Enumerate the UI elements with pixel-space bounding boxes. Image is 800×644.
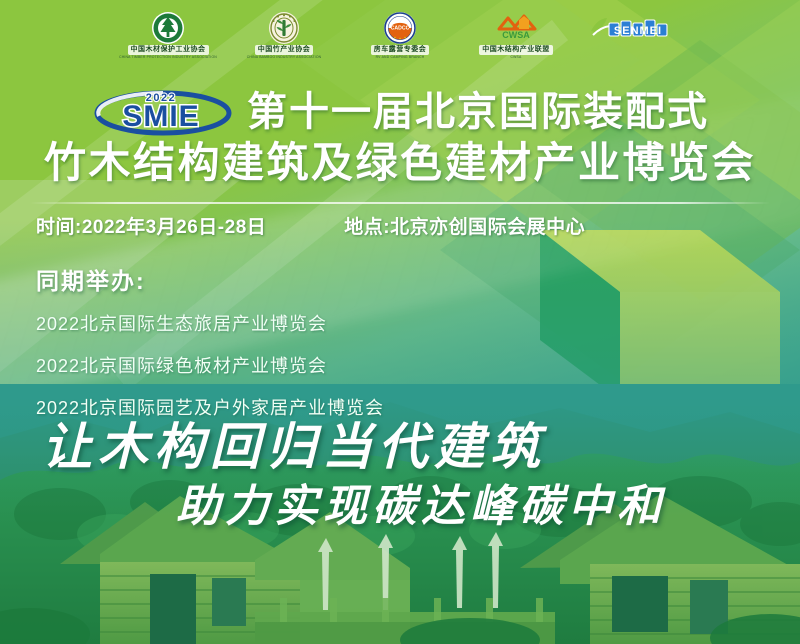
slogan-block: 让木构回归当代建筑 助力实现碳达峰碳中和 (0, 418, 800, 534)
slogan-line-2: 助力实现碳达峰碳中和 (0, 480, 800, 534)
tree-shield-icon (151, 11, 185, 45)
slogan-line-1: 让木构回归当代建筑 (0, 418, 800, 476)
logo-label-cn: 中国竹产业协会 (255, 45, 314, 54)
concurrent-events-section: 同期举办: 2022北京国际生态旅居产业博览会 2022北京国际绿色板材产业博览… (36, 262, 384, 436)
title-divider (30, 202, 770, 204)
logo-label-en: RV AND CAMPING BRANCH (376, 55, 425, 59)
logo-label-en: CWSA (511, 55, 522, 59)
logo-senmei[interactable]: SENMEI SENMEI SENMEI (589, 11, 675, 58)
logo-label-cn: 房车露营专委会 (371, 45, 430, 54)
event-date: 时间:2022年3月26日-28日 (36, 212, 266, 239)
logo-label-en: CHINA BAMBOO INDUSTRY ASSOCIATION (247, 55, 322, 59)
concurrent-list: 2022北京国际生态旅居产业博览会 2022北京国际绿色板材产业博览会 2022… (36, 310, 384, 420)
svg-text:CWSA: CWSA (502, 30, 530, 40)
senmei-leaf-icon: SENMEI (587, 11, 677, 45)
smie-logo: 2022 SMIE (91, 88, 237, 136)
logo-cwsa-wood-structure-alliance[interactable]: CWSA 中国木结构产业联盟 CWSA (473, 11, 559, 58)
title-line-1: 第十一届北京国际装配式 (247, 89, 709, 135)
logo-label-en: CHINA TIMBER PROTECTION INDUSTRY ASSOCIA… (119, 55, 217, 59)
title-line-2: 竹木结构建筑及绿色建材产业博览会 (0, 138, 800, 188)
logo-label-cn: 中国木材保护工业协会 (128, 45, 209, 54)
concurrent-item: 2022北京国际生态旅居产业博览会 (36, 310, 384, 336)
concurrent-item: 2022北京国际绿色板材产业博览会 (36, 352, 384, 378)
svg-text:SENMEI: SENMEI (614, 25, 662, 37)
logo-cadcc-rv-camping-committee[interactable]: CADCC 房车露营专委会 RV AND CAMPING BRANCH (357, 11, 443, 58)
cadcc-badge-icon: CADCC (383, 11, 417, 45)
concurrent-item: 2022北京国际园艺及户外家居产业博览会 (36, 394, 384, 420)
event-meta: 时间:2022年3月26日-28日 地点:北京亦创国际会展中心 (0, 212, 585, 239)
exhibition-poster: 中国木材保护工业协会 CHINA TIMBER PROTECTION INDUS… (0, 0, 800, 644)
concurrent-heading: 同期举办: (36, 262, 384, 296)
event-venue: 地点:北京亦创国际会展中心 (344, 212, 585, 239)
house-roof-icon: CWSA (495, 11, 537, 45)
bamboo-seal-icon (267, 11, 301, 45)
title-block: 2022 SMIE 第十一届北京国际装配式 竹木结构建筑及绿色建材产业博览会 (0, 88, 800, 188)
logo-bamboo-industry-association[interactable]: 中国竹产业协会 CHINA BAMBOO INDUSTRY ASSOCIATIO… (241, 11, 327, 58)
svg-text:CADCC: CADCC (391, 26, 410, 32)
logo-china-timber-association[interactable]: 中国木材保护工业协会 CHINA TIMBER PROTECTION INDUS… (125, 11, 211, 58)
association-logo-strip: 中国木材保护工业协会 CHINA TIMBER PROTECTION INDUS… (0, 6, 800, 64)
smie-mark-text: SMIE (122, 100, 199, 133)
logo-label-cn: 中国木结构产业联盟 (479, 45, 553, 54)
